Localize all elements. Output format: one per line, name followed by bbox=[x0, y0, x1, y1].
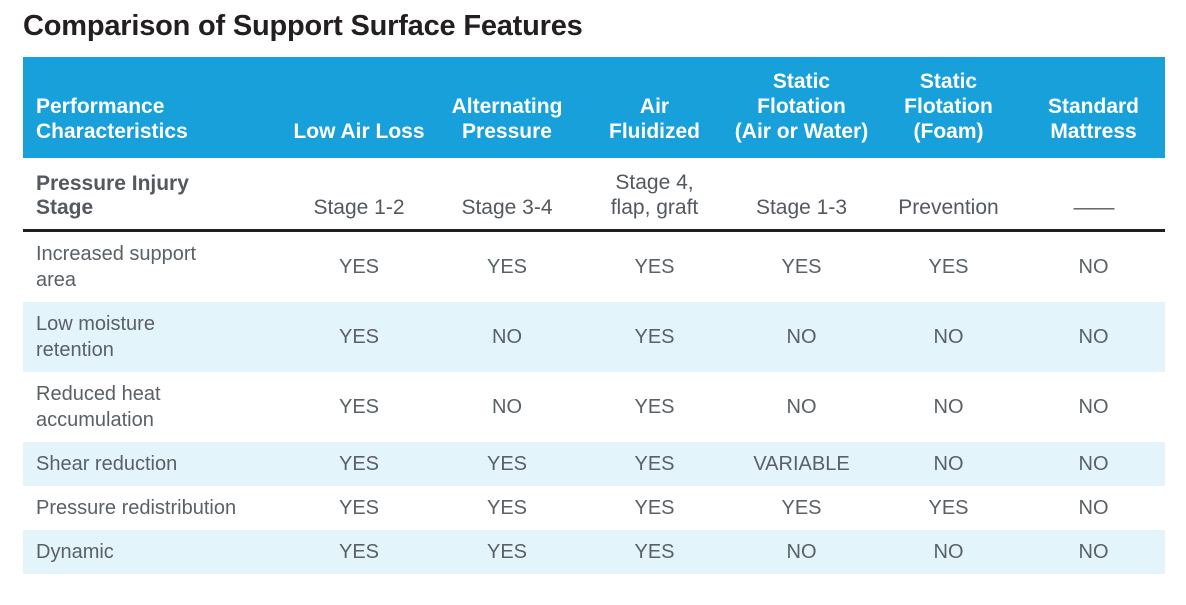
row-label-line: accumulation bbox=[36, 409, 154, 431]
cell-value: NO bbox=[1022, 302, 1165, 372]
column-header-line: (Foam) bbox=[914, 120, 984, 143]
cell-value: NO bbox=[1022, 230, 1165, 302]
row-label-line: Shear reduction bbox=[36, 453, 177, 475]
column-header-line: Characteristics bbox=[36, 120, 188, 143]
cell-value: YES bbox=[285, 442, 433, 486]
cell-value: NO bbox=[1022, 442, 1165, 486]
cell-stage-standard-mattress: —— bbox=[1022, 158, 1165, 230]
cell-value: YES bbox=[581, 442, 728, 486]
cell-stage-air-fluidized: Stage 4, flap, graft bbox=[581, 158, 728, 230]
row-label-increased-support-area: Increased support area bbox=[23, 230, 285, 302]
cell-value: YES bbox=[581, 230, 728, 302]
cell-value: YES bbox=[581, 372, 728, 442]
page-root: Comparison of Support Surface Features P… bbox=[0, 0, 1186, 605]
cell-value: YES bbox=[581, 530, 728, 574]
cell-value: YES bbox=[875, 230, 1022, 302]
column-header-low-air-loss: Low Air Loss bbox=[285, 57, 433, 158]
cell-stage-low-air-loss: Stage 1-2 bbox=[285, 158, 433, 230]
table-header-row: Performance Characteristics Low Air Loss… bbox=[23, 57, 1165, 158]
cell-value: YES bbox=[728, 486, 875, 530]
cell-value: NO bbox=[875, 442, 1022, 486]
cell-value: YES bbox=[285, 530, 433, 574]
cell-value: YES bbox=[433, 442, 581, 486]
table-row: Pressure redistribution YES YES YES YES … bbox=[23, 486, 1165, 530]
cell-value: NO bbox=[433, 372, 581, 442]
cell-value: NO bbox=[875, 530, 1022, 574]
row-label-line: retention bbox=[36, 339, 114, 361]
cell-value: YES bbox=[581, 302, 728, 372]
cell-value: NO bbox=[1022, 372, 1165, 442]
cell-value: YES bbox=[433, 230, 581, 302]
row-label-line: Dynamic bbox=[36, 541, 114, 563]
column-header-line: Fluidized bbox=[609, 120, 700, 143]
row-label-line: Pressure redistribution bbox=[36, 497, 236, 519]
row-label-pressure-injury-stage: Pressure Injury Stage bbox=[23, 158, 285, 230]
column-header-line: (Air or Water) bbox=[735, 120, 868, 143]
row-label-line: Increased support bbox=[36, 243, 196, 265]
page-title: Comparison of Support Surface Features bbox=[23, 8, 583, 44]
cell-value: YES bbox=[285, 230, 433, 302]
column-header-line: Low Air Loss bbox=[293, 120, 424, 143]
column-header-static-flotation-foam: Static Flotation (Foam) bbox=[875, 57, 1022, 158]
table-row: Dynamic YES YES YES NO NO NO bbox=[23, 530, 1165, 574]
column-header-line: Alternating bbox=[452, 95, 563, 118]
cell-value: YES bbox=[285, 302, 433, 372]
table-row: Increased support area YES YES YES YES Y… bbox=[23, 230, 1165, 302]
column-header-line: Standard bbox=[1048, 95, 1139, 118]
row-label-shear-reduction: Shear reduction bbox=[23, 442, 285, 486]
cell-stage-alternating-pressure: Stage 3-4 bbox=[433, 158, 581, 230]
row-label-line: Pressure Injury bbox=[36, 172, 189, 195]
row-label-reduced-heat-accumulation: Reduced heat accumulation bbox=[23, 372, 285, 442]
column-header-alternating-pressure: Alternating Pressure bbox=[433, 57, 581, 158]
row-label-line: Low moisture bbox=[36, 313, 155, 335]
column-header-line: Static bbox=[920, 70, 977, 93]
cell-value: YES bbox=[875, 486, 1022, 530]
cell-value: YES bbox=[433, 486, 581, 530]
column-header-line: Static bbox=[773, 70, 830, 93]
row-label-low-moisture-retention: Low moisture retention bbox=[23, 302, 285, 372]
column-header-standard-mattress: Standard Mattress bbox=[1022, 57, 1165, 158]
cell-stage-static-flotation-air-or-water: Stage 1-3 bbox=[728, 158, 875, 230]
cell-value: NO bbox=[1022, 486, 1165, 530]
cell-value: VARIABLE bbox=[728, 442, 875, 486]
column-header-line: Pressure bbox=[462, 120, 552, 143]
support-surface-comparison-table: Performance Characteristics Low Air Loss… bbox=[23, 57, 1165, 574]
cell-value: NO bbox=[433, 302, 581, 372]
table-row: Reduced heat accumulation YES NO YES NO … bbox=[23, 372, 1165, 442]
column-header-line: Performance bbox=[36, 95, 164, 118]
cell-value: NO bbox=[728, 372, 875, 442]
row-label-line: Stage bbox=[36, 196, 93, 219]
cell-value: YES bbox=[728, 230, 875, 302]
row-label-line: Reduced heat bbox=[36, 383, 161, 405]
cell-line: flap, graft bbox=[611, 196, 699, 219]
table-row: Low moisture retention YES NO YES NO NO … bbox=[23, 302, 1165, 372]
cell-value: NO bbox=[875, 302, 1022, 372]
column-header-line: Flotation bbox=[757, 95, 846, 118]
cell-value: YES bbox=[285, 372, 433, 442]
cell-stage-static-flotation-foam: Prevention bbox=[875, 158, 1022, 230]
table-row: Shear reduction YES YES YES VARIABLE NO … bbox=[23, 442, 1165, 486]
pressure-injury-stage-row: Pressure Injury Stage Stage 1-2 Stage 3-… bbox=[23, 158, 1165, 230]
cell-line: Stage 4, bbox=[615, 171, 693, 194]
column-header-air-fluidized: Air Fluidized bbox=[581, 57, 728, 158]
cell-value: NO bbox=[1022, 530, 1165, 574]
column-header-line: Flotation bbox=[904, 95, 993, 118]
row-label-dynamic: Dynamic bbox=[23, 530, 285, 574]
cell-value: YES bbox=[433, 530, 581, 574]
cell-value: YES bbox=[581, 486, 728, 530]
column-header-performance-characteristics: Performance Characteristics bbox=[23, 57, 285, 158]
column-header-line: Mattress bbox=[1050, 120, 1136, 143]
row-label-pressure-redistribution: Pressure redistribution bbox=[23, 486, 285, 530]
column-header-static-flotation-air-or-water: Static Flotation (Air or Water) bbox=[728, 57, 875, 158]
cell-value: NO bbox=[728, 302, 875, 372]
cell-value: YES bbox=[285, 486, 433, 530]
cell-value: NO bbox=[875, 372, 1022, 442]
row-label-line: area bbox=[36, 269, 76, 291]
cell-value: NO bbox=[728, 530, 875, 574]
column-header-line: Air bbox=[640, 95, 669, 118]
